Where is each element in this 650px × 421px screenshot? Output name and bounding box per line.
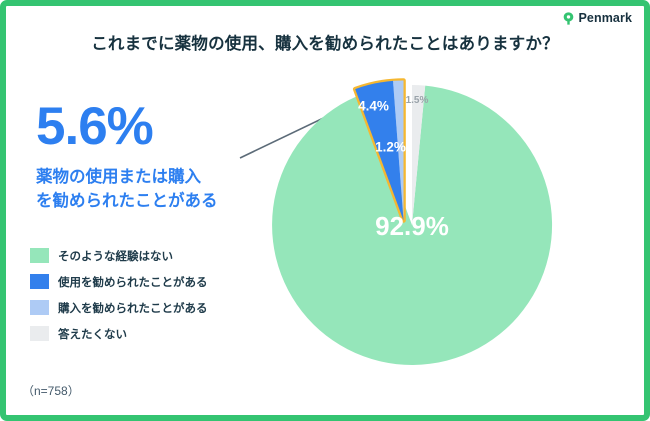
- pie-chart: 4.4% 1.2% 1.5% 92.9%: [236, 58, 626, 408]
- pie-label-use-recommended: 4.4%: [358, 99, 389, 114]
- legend-swatch-icon: [30, 248, 49, 263]
- pie-label-no-experience: 92.9%: [375, 211, 449, 241]
- legend-swatch-icon: [30, 326, 49, 341]
- legend-label: 購入を勧められたことがある: [58, 300, 208, 316]
- sample-size-note: （n=758）: [22, 382, 80, 399]
- legend-label: 答えたくない: [58, 326, 127, 342]
- legend-swatch-icon: [30, 300, 49, 315]
- legend-label: そのような経験はない: [58, 248, 173, 264]
- legend-swatch-icon: [30, 274, 49, 289]
- brand-name: Penmark: [578, 11, 632, 25]
- pie-label-no-answer: 1.5%: [406, 95, 429, 106]
- legend-label: 使用を勧められたことがある: [58, 274, 208, 290]
- page-title: これまでに薬物の使用、購入を勧められたことはありますか？: [0, 30, 650, 54]
- pie-chart-svg: 4.4% 1.2% 1.5% 92.9%: [236, 58, 626, 408]
- location-pin-icon: [563, 12, 574, 25]
- pie-label-purchase-recommended: 1.2%: [375, 140, 406, 155]
- infographic-canvas: Penmark これまでに薬物の使用、購入を勧められたことはありますか？ 5.6…: [0, 0, 650, 421]
- brand-logo: Penmark: [563, 11, 632, 25]
